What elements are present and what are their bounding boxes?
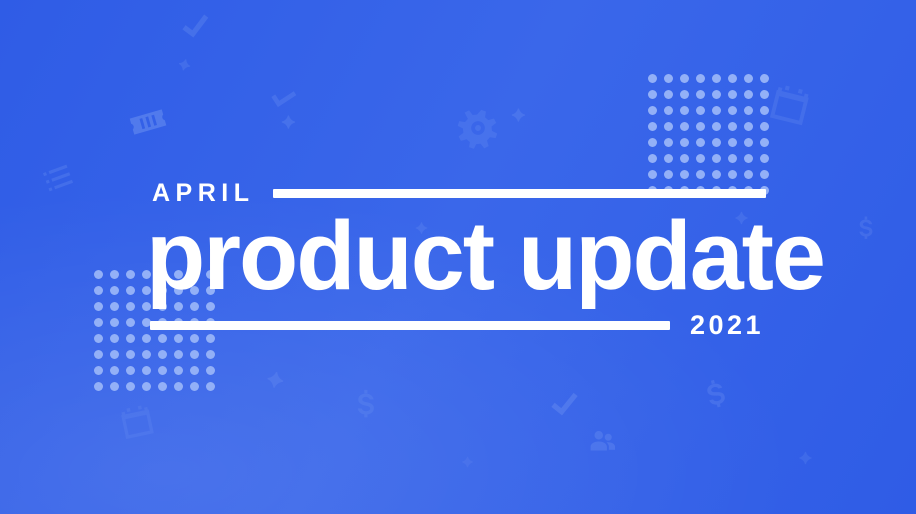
year-row: 2021 <box>150 308 771 342</box>
year-label: 2021 <box>690 312 764 339</box>
page-title: product update <box>146 207 786 304</box>
banner-content: APRIL product update 2021 <box>0 0 916 514</box>
rule-bottom <box>150 321 670 330</box>
rule-top <box>273 189 767 198</box>
product-update-banner: APRIL product update 2021 <box>0 0 916 514</box>
